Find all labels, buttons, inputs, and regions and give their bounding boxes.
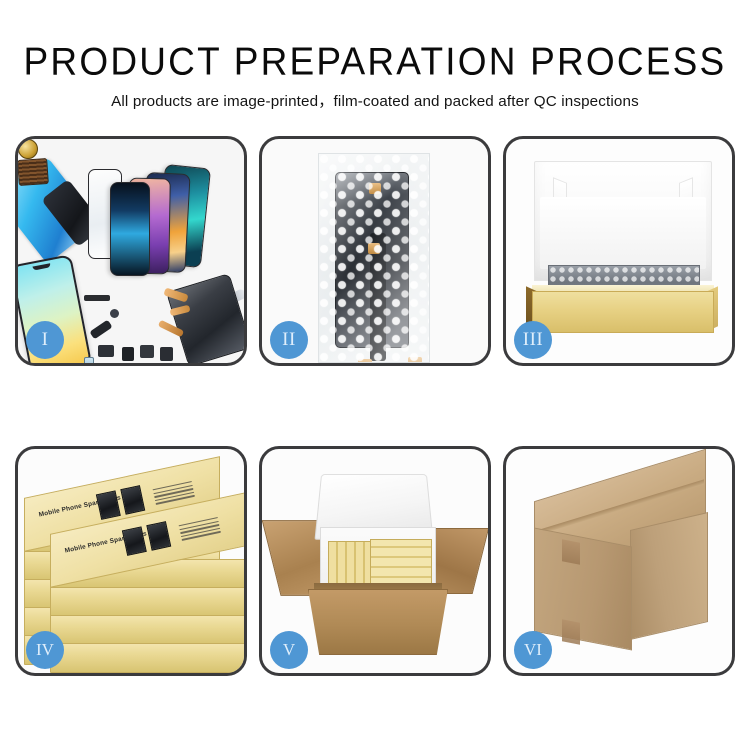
component-strip: [84, 295, 110, 301]
phone-fan-group: [88, 169, 238, 279]
step-badge-1: I: [26, 321, 64, 359]
stack-box-r4: [50, 643, 244, 673]
process-step-5: V: [259, 446, 491, 676]
product-preparation-infographic: PRODUCT PREPARATION PROCESS All products…: [0, 0, 750, 750]
page-subtitle: All products are image-printed，film-coat…: [0, 91, 750, 113]
yellow-box-body: [532, 291, 714, 333]
process-step-6: VI: [503, 446, 735, 676]
step-badge-5: V: [270, 631, 308, 669]
component-1: [89, 320, 112, 340]
component-6: [160, 347, 173, 361]
header: PRODUCT PREPARATION PROCESS All products…: [0, 0, 750, 113]
stack-box-r2: [50, 587, 244, 617]
bubble-wrap-bag: [318, 153, 430, 363]
chip-grid-component: [18, 158, 49, 186]
stack-box-r3: [50, 615, 244, 645]
plastic-sheen: [319, 154, 429, 362]
phone-notch: [32, 263, 50, 270]
page-title: PRODUCT PREPARATION PROCESS: [0, 39, 750, 86]
process-step-3: III: [503, 136, 735, 366]
step-badge-3: III: [514, 321, 552, 359]
carton-front-panel: [308, 589, 448, 655]
camera-lens-component: [110, 309, 119, 318]
carton-tape-bottom: [562, 619, 580, 644]
step-badge-4: IV: [26, 631, 64, 669]
box-artwork-screen: [146, 521, 171, 551]
carton-side-panel: [630, 512, 708, 640]
box-artwork-screen: [120, 485, 145, 515]
step-badge-6: VI: [514, 631, 552, 669]
step-badge-2: II: [270, 321, 308, 359]
process-step-4: Mobile Phone Spare Parts Mobile Phone Sp…: [15, 446, 247, 676]
foam-sheet: [540, 197, 706, 269]
box-artwork-screen: [96, 490, 121, 520]
component-2: [98, 345, 114, 357]
process-step-2: II: [259, 136, 491, 366]
yellow-boxes-row-2: [370, 539, 432, 587]
process-steps-grid: I II: [15, 136, 735, 676]
phone-backplate: [166, 273, 244, 363]
carton-front-face: [534, 527, 632, 650]
carton-tape-top: [562, 539, 580, 564]
component-3: [122, 347, 134, 361]
box-artwork-screen: [122, 526, 147, 556]
speaker-component: [18, 139, 38, 159]
component-5: [84, 357, 94, 363]
process-step-1: I: [15, 136, 247, 366]
component-4: [140, 345, 154, 358]
phone-blue: [110, 182, 150, 276]
